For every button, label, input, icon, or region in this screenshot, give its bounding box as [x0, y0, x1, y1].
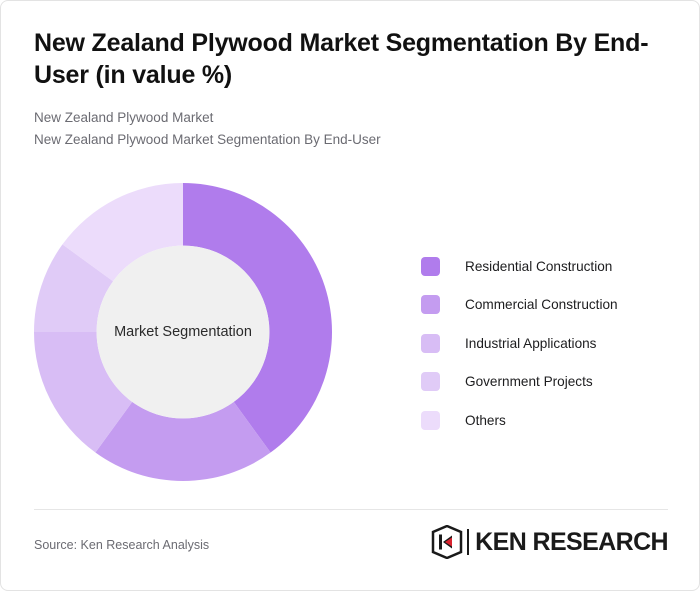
donut-hole: [97, 246, 270, 419]
legend-swatch-icon: [421, 372, 440, 391]
legend-swatch-icon: [421, 334, 440, 353]
subtitle-primary: New Zealand Plywood Market: [34, 107, 664, 129]
chart-card: New Zealand Plywood Market Segmentation …: [0, 0, 700, 591]
source-note: Source: Ken Research Analysis: [34, 538, 209, 552]
chart-header: New Zealand Plywood Market Segmentation …: [34, 27, 664, 151]
legend-item[interactable]: Commercial Construction: [421, 286, 618, 325]
legend-item-label: Others: [465, 413, 506, 428]
ken-research-logo-icon: [431, 525, 463, 559]
brand-divider: [467, 529, 469, 555]
chart-area: Market Segmentation Residential Construc…: [1, 171, 700, 501]
legend-item[interactable]: Residential Construction: [421, 247, 618, 286]
legend-item-label: Government Projects: [465, 374, 593, 389]
legend-item[interactable]: Government Projects: [421, 363, 618, 402]
legend-swatch-icon: [421, 295, 440, 314]
donut-chart: Market Segmentation: [33, 182, 333, 482]
legend-item-label: Residential Construction: [465, 259, 612, 274]
chart-legend: Residential ConstructionCommercial Const…: [421, 247, 618, 440]
legend-item-label: Industrial Applications: [465, 336, 596, 351]
brand-wordmark-text: KEN RESEARCH: [475, 530, 668, 555]
legend-swatch-icon: [421, 411, 440, 430]
page-title: New Zealand Plywood Market Segmentation …: [34, 27, 664, 91]
donut-svg: [33, 182, 333, 482]
subtitle-secondary: New Zealand Plywood Market Segmentation …: [34, 129, 664, 151]
footer-divider: [34, 509, 668, 510]
subtitle-block: New Zealand Plywood Market New Zealand P…: [34, 107, 664, 151]
brand-logo: KEN RESEARCH: [431, 525, 668, 559]
brand-wordmark: KEN RESEARCH: [475, 530, 668, 555]
legend-swatch-icon: [421, 257, 440, 276]
legend-item[interactable]: Industrial Applications: [421, 324, 618, 363]
legend-item[interactable]: Others: [421, 401, 618, 440]
legend-item-label: Commercial Construction: [465, 297, 618, 312]
